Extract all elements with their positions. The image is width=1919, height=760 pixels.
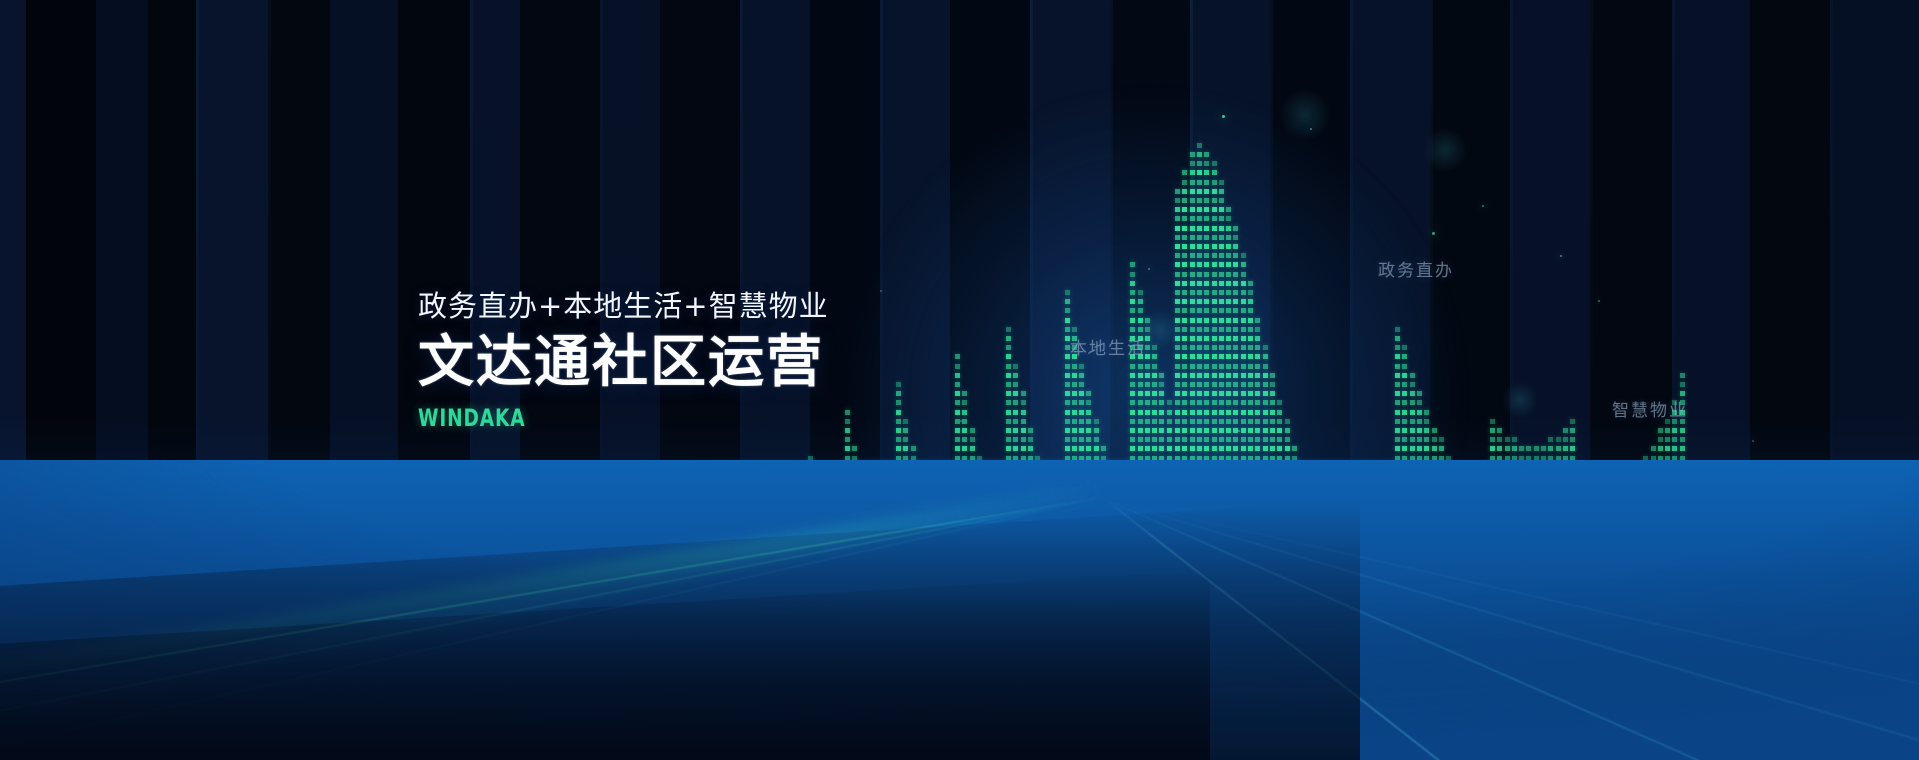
callout-zhengwuzhiban: 政务直办 xyxy=(1378,256,1454,281)
banner-stage: 政务直办 本地生活 智慧物业 政务直办+本地生活+智慧物业 文达通社区运营 WI… xyxy=(0,0,1919,760)
headline-block: 政务直办+本地生活+智慧物业 文达通社区运营 WINDAKA xyxy=(418,292,829,430)
callout-bendishenghuo: 本地生活 xyxy=(1070,334,1146,359)
brand-wordmark: WINDAKA xyxy=(418,406,771,430)
headline-title: 文达通社区运营 xyxy=(418,335,829,391)
headline-subtitle: 政务直办+本地生活+智慧物业 xyxy=(418,292,829,321)
callout-zhihuiwuye: 智慧物业 xyxy=(1612,396,1688,421)
